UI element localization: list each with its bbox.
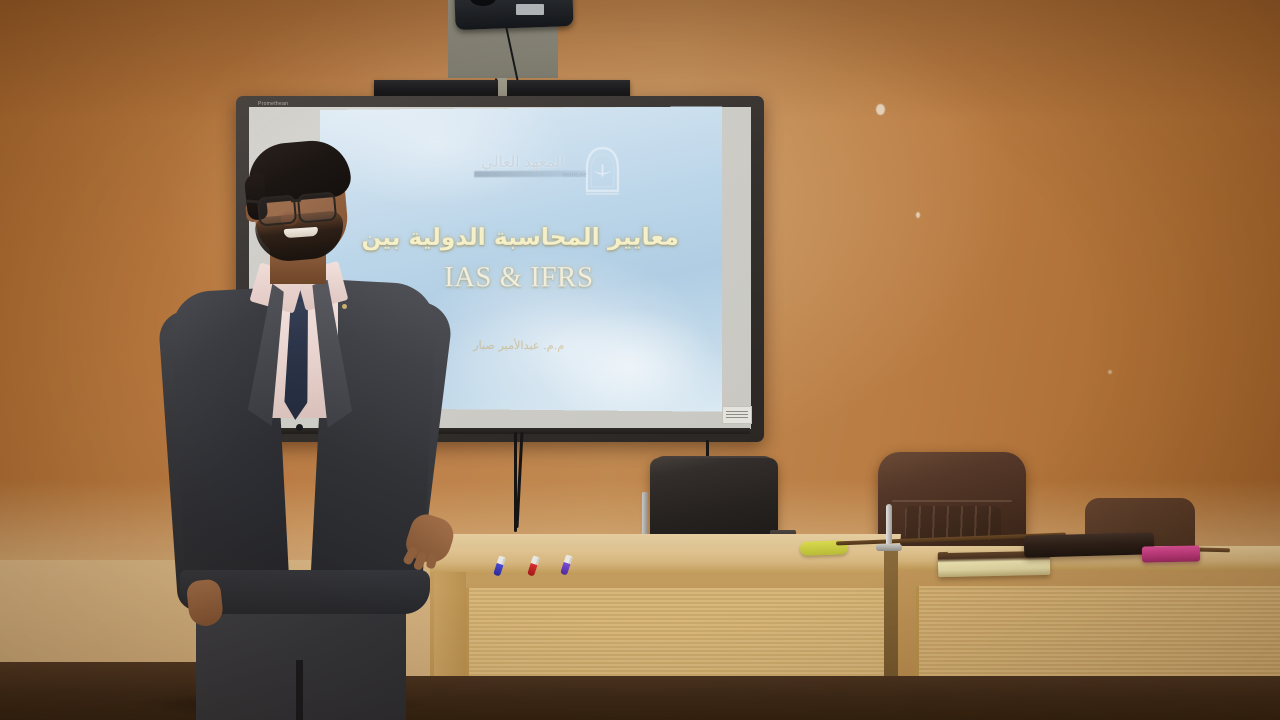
- wall-blemish: [916, 212, 920, 218]
- trouser-crease: [296, 660, 303, 720]
- lapel-pin-icon: [342, 304, 347, 309]
- whiteboard-serial-sticker: [722, 406, 752, 424]
- arch-emblem-icon: [583, 146, 622, 199]
- projector: [454, 0, 573, 30]
- closed-laptop[interactable]: [1024, 532, 1155, 557]
- desk-microphone[interactable]: [886, 504, 892, 548]
- microphone-base: [876, 544, 902, 551]
- slide-logo-arabic-text: المعهد العالي: [481, 152, 564, 171]
- jacket-button: [296, 424, 303, 431]
- presenter: [150, 140, 480, 720]
- projector-glare: [532, 306, 722, 412]
- whiteboard-brand-label: Promethean: [258, 101, 288, 107]
- wall-blemish: [1108, 370, 1112, 374]
- pink-case[interactable]: [1142, 545, 1200, 562]
- wall-blemish: [876, 104, 885, 115]
- projector-label: [516, 4, 544, 15]
- finger: [426, 553, 438, 570]
- chair-seam: [892, 500, 1012, 502]
- eyeglasses-lens-right: [297, 191, 337, 223]
- photo-scene: Promethean المعهد العالي Institute معايي…: [0, 0, 1280, 720]
